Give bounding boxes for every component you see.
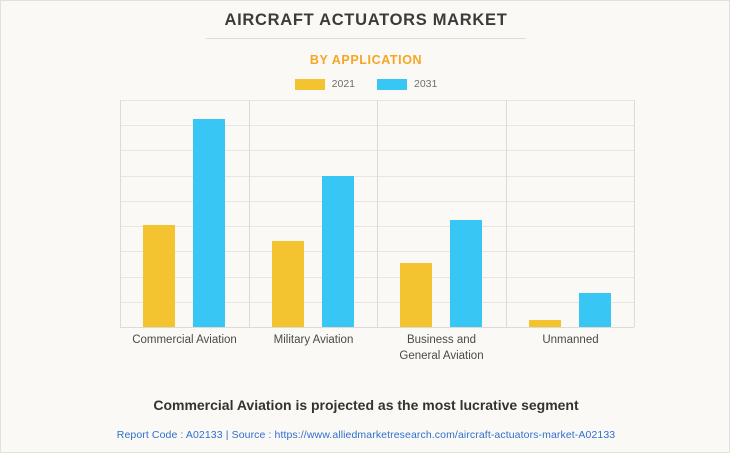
bar-commercial-aviation-2031[interactable] xyxy=(193,119,225,327)
x-axis-label-military-aviation: Military Aviation xyxy=(249,332,378,348)
title-block: AIRCRAFT ACTUATORS MARKET xyxy=(1,10,730,39)
square-swatch-icon xyxy=(295,79,325,90)
bar-military-aviation-2031[interactable] xyxy=(322,176,354,327)
square-swatch-icon xyxy=(377,79,407,90)
x-axis-category-labels: Commercial AviationMilitary AviationBusi… xyxy=(120,332,634,378)
x-axis-label-commercial-aviation: Commercial Aviation xyxy=(120,332,249,348)
bar-commercial-aviation-2021[interactable] xyxy=(143,225,175,327)
bar-military-aviation-2021[interactable] xyxy=(272,241,304,327)
plot-area xyxy=(120,100,634,327)
x-axis-label-unmanned: Unmanned xyxy=(506,332,635,348)
source-url[interactable]: Source : https://www.alliedmarketresearc… xyxy=(232,429,616,441)
chart-subtitle: BY APPLICATION xyxy=(1,53,730,67)
bar-unmanned-2031[interactable] xyxy=(579,293,611,327)
bar-series-layer xyxy=(120,100,634,327)
bar-unmanned-2021[interactable] xyxy=(529,320,561,327)
source-line: Report Code : A02133 | Source : https://… xyxy=(1,429,730,441)
title-divider xyxy=(206,38,526,39)
chart-legend: 2021 2031 xyxy=(1,79,730,90)
x-axis-label-business-and-general-aviation: Business andGeneral Aviation xyxy=(377,332,506,364)
source-separator: | xyxy=(226,429,229,441)
insight-note: Commercial Aviation is projected as the … xyxy=(1,397,730,413)
page-title: AIRCRAFT ACTUATORS MARKET xyxy=(1,10,730,30)
legend-item-2021[interactable]: 2021 xyxy=(295,79,355,90)
legend-label-2031: 2031 xyxy=(414,79,437,90)
report-code: Report Code : A02133 xyxy=(117,429,223,441)
bar-business-and-general-aviation-2021[interactable] xyxy=(400,263,432,327)
gridline-vertical xyxy=(634,100,635,327)
legend-label-2021: 2021 xyxy=(332,79,355,90)
infographic-card: AIRCRAFT ACTUATORS MARKET BY APPLICATION… xyxy=(0,0,730,453)
axis-baseline xyxy=(120,327,634,328)
bar-business-and-general-aviation-2031[interactable] xyxy=(450,220,482,327)
legend-item-2031[interactable]: 2031 xyxy=(377,79,437,90)
